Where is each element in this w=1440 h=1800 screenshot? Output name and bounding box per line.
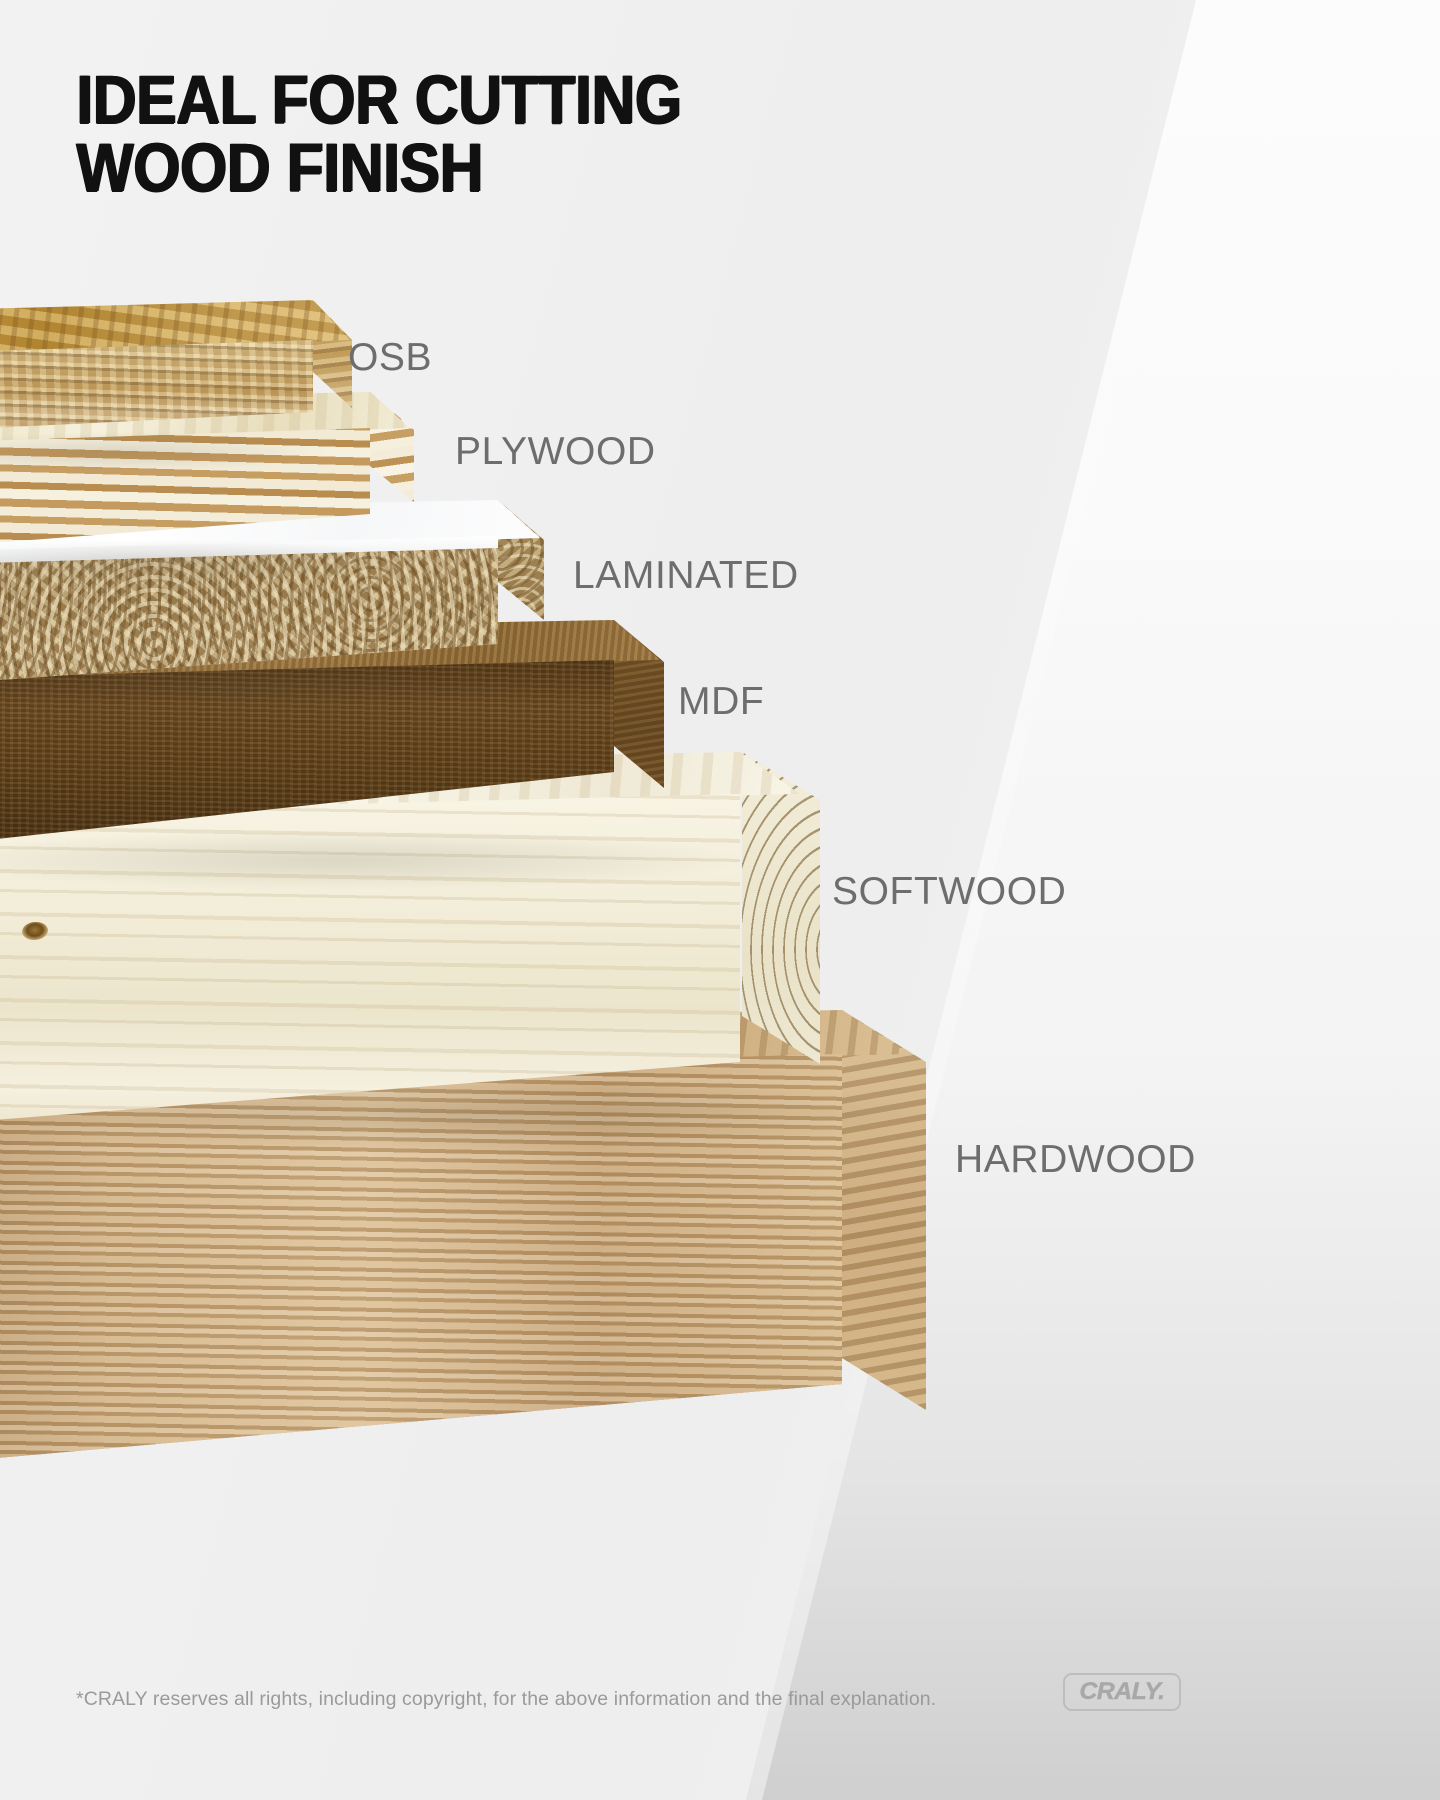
label-hardwood: HARDWOOD bbox=[955, 1140, 1196, 1179]
label-laminated: LAMINATED bbox=[573, 556, 799, 595]
label-mdf: MDF bbox=[678, 682, 764, 721]
label-softwood: SOFTWOOD bbox=[832, 872, 1066, 911]
board-osb[interactable] bbox=[0, 300, 350, 440]
copyright-disclaimer: *CRALY reserves all rights, including co… bbox=[76, 1688, 936, 1711]
osb-strand-face bbox=[0, 340, 313, 438]
wood-sample-stack bbox=[0, 0, 1440, 1800]
label-osb: OSB bbox=[348, 338, 432, 377]
softwood-knot bbox=[21, 921, 49, 942]
plywood-plies-face bbox=[0, 428, 370, 560]
label-plywood: PLYWOOD bbox=[455, 432, 656, 471]
craly-logo-text: CRALY. bbox=[1079, 1680, 1164, 1704]
craly-logo: CRALY. bbox=[1063, 1673, 1181, 1711]
laminated-chipboard-core-face bbox=[0, 548, 498, 698]
poster-canvas: IDEAL FOR CUTTING WOOD FINISH bbox=[0, 0, 1440, 1800]
